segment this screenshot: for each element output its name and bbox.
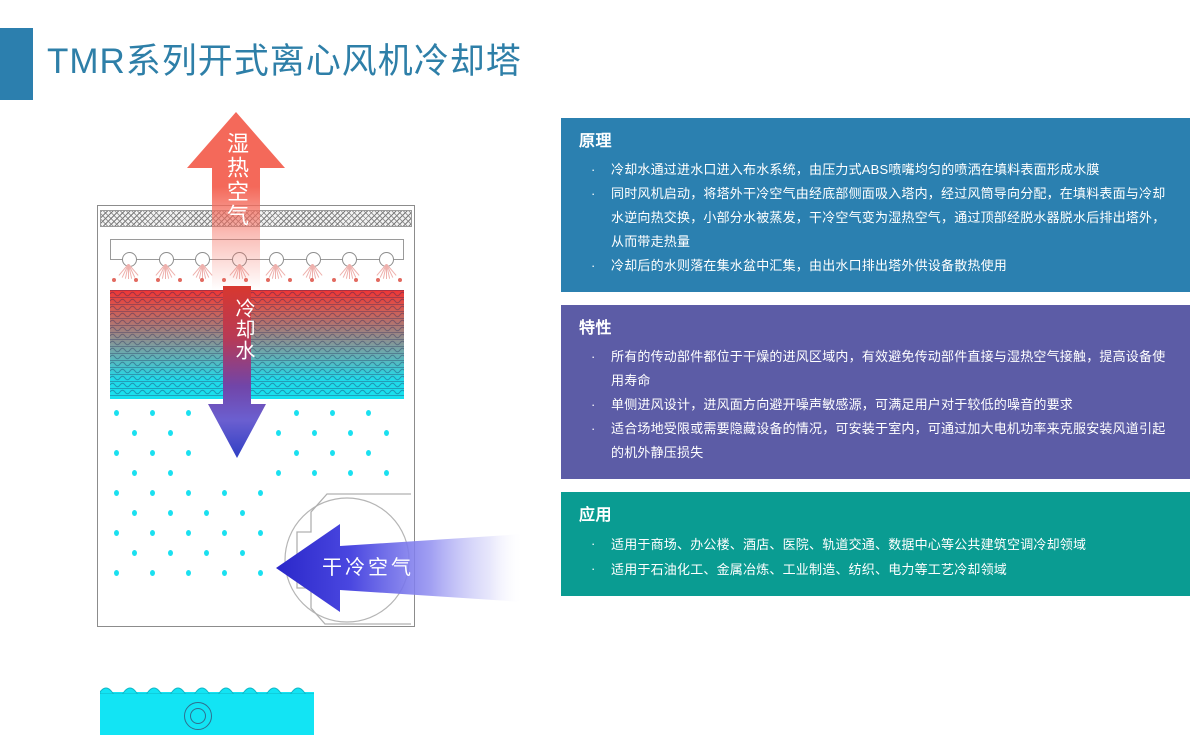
bullet-dot-icon: · [591, 158, 596, 182]
spray-droplet [310, 278, 314, 282]
spray-droplet [112, 278, 116, 282]
water-droplet [114, 410, 119, 416]
water-droplet [276, 430, 281, 436]
cooling-water-label: 冷却水 [212, 298, 264, 386]
list-item-text: 单侧进风设计，进风面方向避开噪声敏感源，可满足用户对于较低的噪音的要求 [611, 397, 1073, 412]
water-droplet [294, 450, 299, 456]
water-droplet [186, 490, 191, 496]
water-droplet [114, 570, 119, 576]
water-droplet [240, 550, 245, 556]
list-item-text: 所有的传动部件都位于干燥的进风区域内，有效避免传动部件直接与湿热空气接触，提高设… [611, 349, 1165, 388]
panel-principle: 原理 · 冷却水通过进水口进入布水系统，由压力式ABS喷嘴均匀的喷洒在填料表面形… [561, 118, 1190, 292]
water-droplet [132, 430, 137, 436]
spray-droplet [134, 278, 138, 282]
panel-feature: 特性 · 所有的传动部件都位于干燥的进风区域内，有效避免传动部件直接与湿热空气接… [561, 305, 1190, 479]
water-droplet [168, 510, 173, 516]
water-droplet [132, 470, 137, 476]
panel-principle-title: 原理 [579, 130, 1174, 154]
spray-droplet [354, 278, 358, 282]
water-droplet [366, 410, 371, 416]
panel-application-bullets: · 适用于商场、办公楼、酒店、医院、轨道交通、数据中心等公共建筑空调冷却领域 ·… [577, 532, 1174, 582]
water-droplet [330, 450, 335, 456]
water-droplet [384, 430, 389, 436]
water-droplet [168, 550, 173, 556]
water-droplet [258, 570, 263, 576]
nozzle-spray-fan [152, 264, 178, 279]
bullet-dot-icon: · [591, 254, 596, 278]
water-droplet [222, 530, 227, 536]
bullet-dot-icon: · [591, 393, 596, 417]
list-item: · 适合场地受限或需要隐藏设备的情况，可安装于室内，可通过加大电机功率来克服安装… [577, 417, 1174, 465]
dry-cold-air-label: 干冷空气 [322, 542, 492, 594]
bullet-dot-icon: · [591, 417, 596, 441]
water-droplet [114, 490, 119, 496]
water-droplet [330, 410, 335, 416]
nozzle-spray-fan [299, 264, 325, 279]
spray-droplet [398, 278, 402, 282]
water-droplet [204, 550, 209, 556]
water-droplet [384, 470, 389, 476]
water-droplet [114, 530, 119, 536]
water-droplet [132, 550, 137, 556]
hot-humid-air-label: 湿热空气 [189, 132, 283, 239]
spray-droplet [332, 278, 336, 282]
list-item-text: 适合场地受限或需要隐藏设备的情况，可安装于室内，可通过加大电机功率来克服安装风道… [611, 421, 1165, 460]
panel-application: 应用 · 适用于商场、办公楼、酒店、医院、轨道交通、数据中心等公共建筑空调冷却领… [561, 492, 1190, 596]
water-droplet [150, 490, 155, 496]
spray-droplet [156, 278, 160, 282]
bullet-dot-icon: · [591, 557, 596, 581]
water-droplet [276, 470, 281, 476]
list-item: · 所有的传动部件都位于干燥的进风区域内，有效避免传动部件直接与湿热空气接触，提… [577, 345, 1174, 393]
basin-water-surface [100, 683, 314, 694]
bullet-dot-icon: · [591, 182, 596, 206]
list-item: · 冷却后的水则落在集水盆中汇集，由出水口排出塔外供设备散热使用 [577, 254, 1174, 278]
list-item: · 冷却水通过进水口进入布水系统，由压力式ABS喷嘴均匀的喷洒在填料表面形成水膜 [577, 158, 1174, 182]
water-droplet [258, 530, 263, 536]
list-item: · 单侧进风设计，进风面方向避开噪声敏感源，可满足用户对于较低的噪音的要求 [577, 393, 1174, 417]
list-item-text: 冷却水通过进水口进入布水系统，由压力式ABS喷嘴均匀的喷洒在填料表面形成水膜 [611, 162, 1100, 177]
panel-application-title: 应用 [579, 504, 1174, 528]
list-item-text: 冷却后的水则落在集水盆中汇集，由出水口排出塔外供设备散热使用 [611, 258, 1007, 273]
water-droplet [204, 510, 209, 516]
water-droplet [240, 510, 245, 516]
water-droplet [348, 430, 353, 436]
water-droplet [186, 410, 191, 416]
water-droplet [150, 570, 155, 576]
panel-feature-title: 特性 [579, 317, 1174, 341]
list-item: · 适用于商场、办公楼、酒店、医院、轨道交通、数据中心等公共建筑空调冷却领域 [577, 532, 1174, 557]
water-droplet [366, 450, 371, 456]
water-outlet-icon [184, 702, 212, 730]
list-item-text: 同时风机启动，将塔外干冷空气由经底部侧面吸入塔内，经过风筒导向分配，在填料表面与… [611, 186, 1165, 249]
water-droplet [132, 510, 137, 516]
water-droplet [312, 470, 317, 476]
bullet-dot-icon: · [591, 345, 596, 369]
page-header: TMR系列开式离心风机冷却塔 [0, 0, 1200, 110]
water-droplet [168, 470, 173, 476]
panel-principle-bullets: · 冷却水通过进水口进入布水系统，由压力式ABS喷嘴均匀的喷洒在填料表面形成水膜… [577, 158, 1174, 278]
cooling-tower-diagram: 湿热空气 冷却水 干冷空气 [60, 110, 530, 655]
water-droplet [150, 530, 155, 536]
water-droplet [186, 450, 191, 456]
list-item-text: 适用于商场、办公楼、酒店、医院、轨道交通、数据中心等公共建筑空调冷却领域 [611, 537, 1086, 552]
list-item-text: 适用于石油化工、金属冶炼、工业制造、纺织、电力等工艺冷却领域 [611, 562, 1007, 577]
bullet-dot-icon: · [591, 532, 596, 556]
info-panel-stack: 原理 · 冷却水通过进水口进入布水系统，由压力式ABS喷嘴均匀的喷洒在填料表面形… [561, 118, 1190, 596]
nozzle-spray-fan [115, 264, 141, 279]
nozzle-spray-fan [373, 264, 399, 279]
panel-feature-bullets: · 所有的传动部件都位于干燥的进风区域内，有效避免传动部件直接与湿热空气接触，提… [577, 345, 1174, 465]
water-droplet [168, 430, 173, 436]
water-droplet [294, 410, 299, 416]
water-droplet [312, 430, 317, 436]
page-title: TMR系列开式离心风机冷却塔 [47, 36, 522, 88]
spray-droplet [376, 278, 380, 282]
list-item: · 适用于石油化工、金属冶炼、工业制造、纺织、电力等工艺冷却领域 [577, 557, 1174, 582]
title-accent-bar [0, 28, 33, 100]
water-droplet [114, 450, 119, 456]
water-droplet [150, 450, 155, 456]
water-droplet [222, 570, 227, 576]
water-droplet [150, 410, 155, 416]
list-item: · 同时风机启动，将塔外干冷空气由经底部侧面吸入塔内，经过风筒导向分配，在填料表… [577, 182, 1174, 254]
water-droplet [186, 570, 191, 576]
nozzle-spray-fan [336, 264, 362, 279]
water-droplet [348, 470, 353, 476]
water-droplet [186, 530, 191, 536]
